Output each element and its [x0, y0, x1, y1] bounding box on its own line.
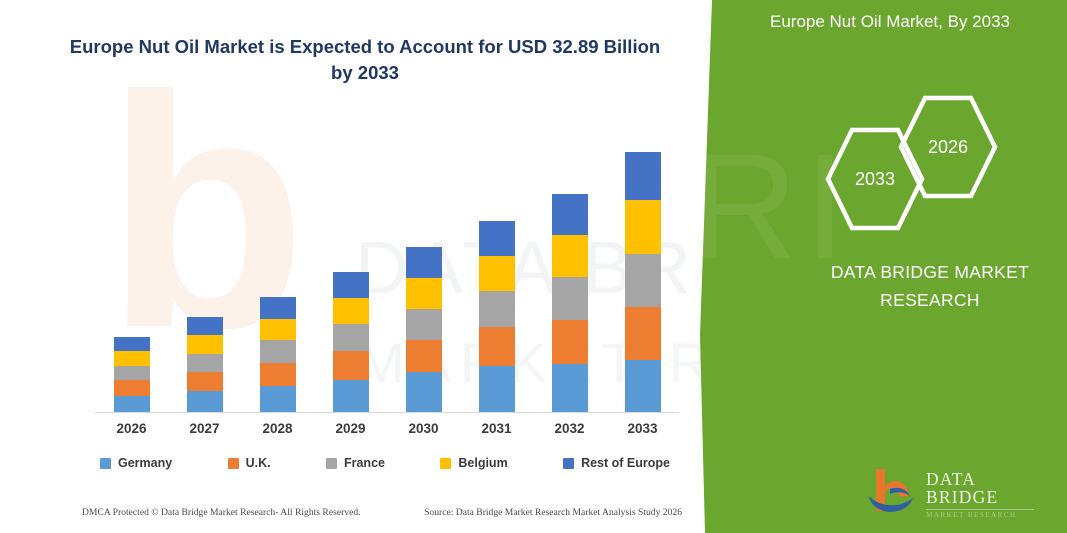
bar-segment-france[interactable]: [114, 366, 150, 381]
brand-line-1: DATA BRIDGE MARKET: [770, 258, 1067, 286]
bar-group-2031: [460, 110, 533, 412]
bar-segment-rest-of-europe[interactable]: [552, 194, 588, 235]
bar-group-2032: [533, 110, 606, 412]
chart-panel: Europe Nut Oil Market is Expected to Acc…: [0, 0, 715, 533]
x-axis-label-2031: 2031: [460, 421, 533, 436]
stacked-bar[interactable]: [479, 221, 515, 412]
x-axis-label-2027: 2027: [168, 421, 241, 436]
legend-item-u-k[interactable]: U.K.: [228, 456, 271, 470]
bar-segment-belgium[interactable]: [333, 298, 369, 324]
hexagon-2026-label: 2026: [898, 95, 998, 199]
chart-axis-line: [95, 412, 679, 413]
stacked-bar[interactable]: [187, 317, 223, 412]
x-axis-label-2030: 2030: [387, 421, 460, 436]
bar-segment-rest-of-europe[interactable]: [187, 317, 223, 335]
bar-segment-rest-of-europe[interactable]: [260, 297, 296, 319]
footer-copyright: DMCA Protected © Data Bridge Market Rese…: [82, 507, 361, 518]
footer: DMCA Protected © Data Bridge Market Rese…: [82, 507, 682, 518]
bar-group-2030: [387, 110, 460, 412]
bar-segment-france[interactable]: [479, 291, 515, 326]
brand-line-2: RESEARCH: [770, 286, 1067, 314]
logo-subtitle: MARKET RESEARCH: [926, 512, 1038, 519]
x-axis-label-2033: 2033: [606, 421, 679, 436]
bar-segment-belgium[interactable]: [187, 335, 223, 353]
logo-title: DATA BRIDGE: [926, 471, 1038, 506]
logo-divider: [926, 509, 1034, 510]
bar-segment-rest-of-europe[interactable]: [406, 247, 442, 278]
x-axis-labels: 20262027202820292030203120322033: [95, 421, 679, 436]
bar-segment-belgium[interactable]: [479, 256, 515, 291]
page-title: Europe Nut Oil Market is Expected to Acc…: [60, 34, 670, 87]
legend-label: France: [344, 456, 385, 470]
bar-segment-germany[interactable]: [260, 386, 296, 412]
hexagon-2026: 2026: [898, 95, 998, 199]
bar-segment-france[interactable]: [625, 254, 661, 308]
bar-segment-u-k[interactable]: [260, 363, 296, 386]
x-axis-label-2032: 2032: [533, 421, 606, 436]
bar-segment-france[interactable]: [260, 340, 296, 362]
bar-segment-rest-of-europe[interactable]: [625, 152, 661, 200]
bar-segment-germany[interactable]: [187, 391, 223, 412]
x-axis-label-2029: 2029: [314, 421, 387, 436]
bar-segment-u-k[interactable]: [479, 327, 515, 366]
legend-label: U.K.: [246, 456, 271, 470]
bar-group-2029: [314, 110, 387, 412]
stacked-bar[interactable]: [260, 297, 296, 412]
bar-group-2027: [168, 110, 241, 412]
bar-segment-france[interactable]: [552, 277, 588, 319]
stacked-bar-chart: [95, 110, 679, 412]
legend-item-germany[interactable]: Germany: [100, 456, 172, 470]
legend-label: Germany: [118, 456, 172, 470]
bar-segment-germany[interactable]: [552, 364, 588, 412]
hexagon-group: 2033 2026: [820, 95, 1030, 215]
bar-segment-france[interactable]: [187, 354, 223, 372]
bar-group-2028: [241, 110, 314, 412]
bar-segment-belgium[interactable]: [260, 319, 296, 341]
legend-swatch-icon: [563, 458, 574, 469]
legend-label: Belgium: [458, 456, 507, 470]
bar-segment-germany[interactable]: [406, 372, 442, 412]
bar-segment-belgium[interactable]: [406, 278, 442, 309]
bar-segment-germany[interactable]: [625, 360, 661, 412]
x-axis-label-2026: 2026: [95, 421, 168, 436]
bar-segment-u-k[interactable]: [114, 380, 150, 395]
legend-swatch-icon: [326, 458, 337, 469]
bar-segment-u-k[interactable]: [333, 351, 369, 379]
stacked-bar[interactable]: [406, 247, 442, 412]
bar-segment-belgium[interactable]: [552, 235, 588, 277]
legend-label: Rest of Europe: [581, 456, 670, 470]
bar-segment-rest-of-europe[interactable]: [114, 337, 150, 352]
legend-item-rest-of-europe[interactable]: Rest of Europe: [563, 456, 670, 470]
footer-source: Source: Data Bridge Market Research Mark…: [424, 507, 682, 518]
stacked-bar[interactable]: [625, 152, 661, 412]
x-axis-label-2028: 2028: [241, 421, 314, 436]
stacked-bar[interactable]: [114, 337, 150, 412]
bar-segment-rest-of-europe[interactable]: [333, 272, 369, 298]
bar-segment-rest-of-europe[interactable]: [479, 221, 515, 256]
legend-item-belgium[interactable]: Belgium: [440, 456, 507, 470]
legend-item-france[interactable]: France: [326, 456, 385, 470]
legend-swatch-icon: [440, 458, 451, 469]
bar-segment-belgium[interactable]: [625, 200, 661, 253]
logo-text: DATA BRIDGE MARKET RESEARCH: [926, 471, 1038, 519]
legend-swatch-icon: [100, 458, 111, 469]
stacked-bar[interactable]: [552, 194, 588, 412]
brand-name: DATA BRIDGE MARKET RESEARCH: [770, 258, 1067, 314]
green-panel-title: Europe Nut Oil Market, By 2033: [735, 10, 1045, 35]
bar-segment-u-k[interactable]: [187, 372, 223, 391]
chart-legend: GermanyU.K.FranceBelgiumRest of Europe: [100, 456, 670, 470]
bar-segment-u-k[interactable]: [552, 320, 588, 364]
bar-segment-u-k[interactable]: [625, 307, 661, 359]
bar-segment-germany[interactable]: [114, 396, 150, 412]
legend-swatch-icon: [228, 458, 239, 469]
bar-segment-u-k[interactable]: [406, 340, 442, 372]
data-bridge-logo: DATA BRIDGE MARKET RESEARCH: [866, 465, 1036, 513]
bar-segment-germany[interactable]: [333, 380, 369, 412]
bar-group-2026: [95, 110, 168, 412]
infographic-root: b DATA BRIDGE MARKET RESEARCH Europe Nut…: [0, 0, 1067, 533]
logo-mark-icon: [866, 465, 922, 513]
bar-group-2033: [606, 110, 679, 412]
bar-segment-germany[interactable]: [479, 366, 515, 412]
bar-segment-france[interactable]: [406, 309, 442, 340]
bar-segment-france[interactable]: [333, 324, 369, 351]
stacked-bar[interactable]: [333, 272, 369, 412]
bar-segment-belgium[interactable]: [114, 351, 150, 366]
